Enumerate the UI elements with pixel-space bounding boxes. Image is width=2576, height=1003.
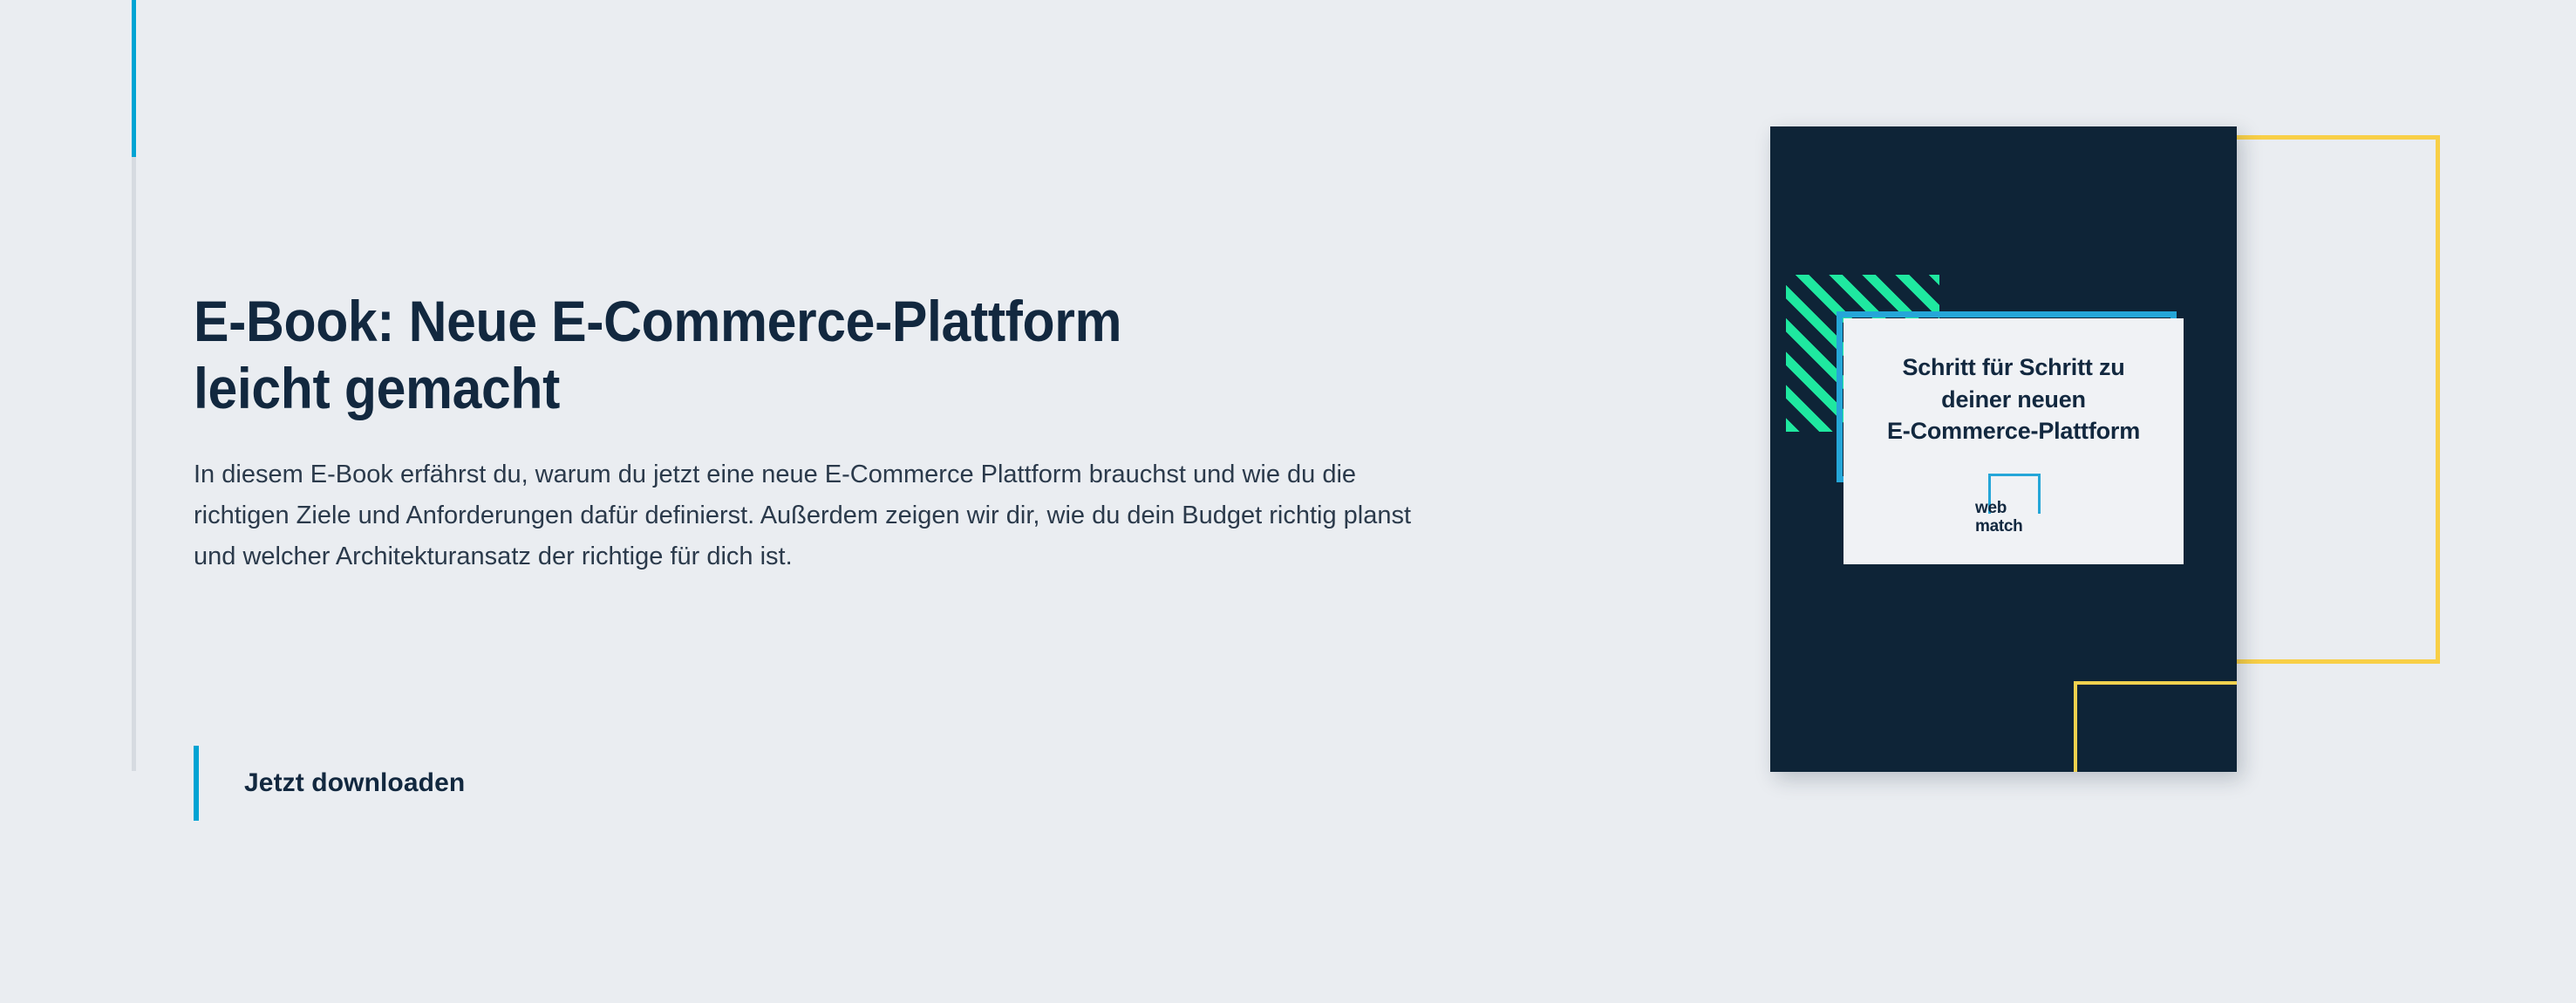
logo-wordmark: web match bbox=[1973, 500, 2054, 536]
ebook-cover-card: Schritt für Schritt zu deiner neuen E-Co… bbox=[1843, 318, 2184, 564]
left-accent-rule-cyan-segment bbox=[132, 0, 136, 157]
ebook-hero-section: E-Book: Neue E-Commerce-Plattform leicht… bbox=[0, 0, 2576, 1003]
hero-copy: E-Book: Neue E-Commerce-Plattform leicht… bbox=[194, 288, 1432, 577]
cta-accent-bar bbox=[194, 746, 199, 821]
download-cta-label: Jetzt downloaden bbox=[244, 768, 465, 798]
yellow-square-outline-icon bbox=[2074, 681, 2237, 772]
page-title: E-Book: Neue E-Commerce-Plattform leicht… bbox=[194, 288, 1332, 421]
download-cta-link[interactable]: Jetzt downloaden bbox=[194, 746, 465, 821]
left-accent-rule-gray-segment bbox=[132, 157, 136, 771]
ebook-cover[interactable]: Schritt für Schritt zu deiner neuen E-Co… bbox=[1770, 126, 2237, 772]
ebook-cover-title: Schritt für Schritt zu deiner neuen E-Co… bbox=[1877, 351, 2150, 447]
webmatch-logo: web match bbox=[1973, 474, 2054, 542]
left-accent-rule bbox=[132, 0, 136, 771]
hero-description: In diesem E-Book erfährst du, warum du j… bbox=[194, 454, 1432, 577]
ebook-artwork: Schritt für Schritt zu deiner neuen E-Co… bbox=[1657, 52, 2529, 925]
